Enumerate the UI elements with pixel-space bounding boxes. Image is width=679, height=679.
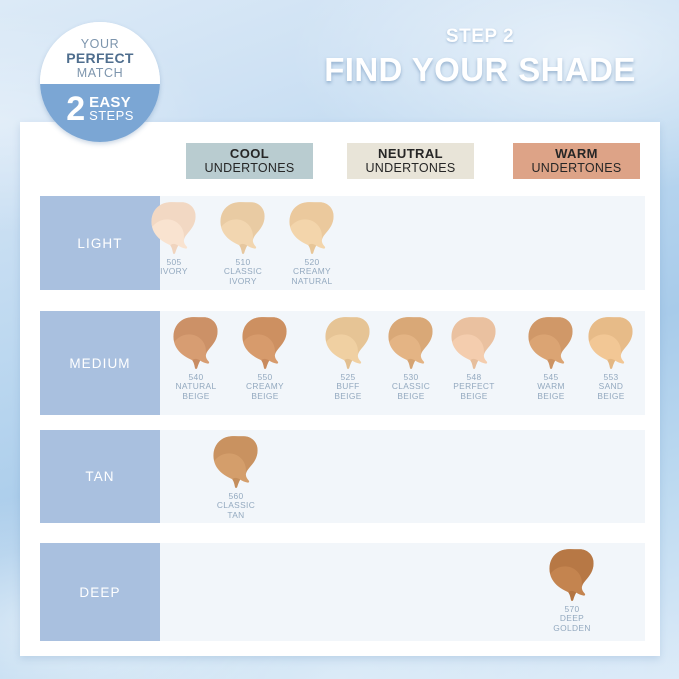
shade-swatch-548[interactable]: 548PERFECTBEIGE [437, 315, 511, 401]
shade-name: IVORY [160, 266, 188, 276]
shade-swatch-553[interactable]: 553SANDBEIGE [574, 315, 648, 401]
shade-label: 520CREAMYNATURAL [275, 258, 349, 286]
shade-row-tan: TAN560CLASSICTAN [40, 430, 645, 523]
foundation-smear-icon [286, 200, 338, 256]
shade-row-light: LIGHT505IVORY510CLASSICIVORY520CREAMYNAT… [40, 196, 645, 290]
foundation-smear-icon [546, 547, 598, 603]
shade-name: DEEPGOLDEN [553, 613, 590, 632]
shade-name: CLASSICIVORY [224, 266, 262, 285]
foundation-smear-icon [585, 315, 637, 371]
shade-swatch-520[interactable]: 520CREAMYNATURAL [275, 200, 349, 286]
row-label-text: TAN [85, 469, 114, 484]
undertone-name: COOL [230, 147, 269, 161]
undertone-header-warm: WARMUNDERTONES [513, 143, 640, 179]
shade-swatch-570[interactable]: 570DEEPGOLDEN [535, 547, 609, 633]
shade-label: 553SANDBEIGE [574, 373, 648, 401]
undertone-header-row: COOLUNDERTONESNEUTRALUNDERTONESWARMUNDER… [0, 143, 679, 179]
badge-line-match: MATCH [77, 66, 124, 80]
page-title: FIND YOUR SHADE [300, 51, 660, 89]
undertone-header-neutral: NEUTRALUNDERTONES [347, 143, 474, 179]
row-label-medium: MEDIUM [40, 311, 160, 415]
row-label-tan: TAN [40, 430, 160, 523]
shade-swatch-550[interactable]: 550CREAMYBEIGE [228, 315, 302, 401]
row-label-text: LIGHT [77, 236, 122, 251]
shade-row-deep: DEEP570DEEPGOLDEN [40, 543, 645, 641]
shade-name: WARMBEIGE [537, 381, 565, 400]
shade-swatch-560[interactable]: 560CLASSICTAN [199, 434, 273, 520]
row-label-text: DEEP [79, 585, 120, 600]
shade-name: CLASSICBEIGE [392, 381, 430, 400]
undertone-header-cool: COOLUNDERTONES [186, 143, 313, 179]
shade-name: NATURALBEIGE [176, 381, 217, 400]
foundation-smear-icon [239, 315, 291, 371]
shade-label: 560CLASSICTAN [199, 492, 273, 520]
foundation-smear-icon [148, 200, 200, 256]
shade-name: CLASSICTAN [217, 500, 255, 519]
foundation-smear-icon [448, 315, 500, 371]
page-header: STEP 2 FIND YOUR SHADE [300, 26, 660, 89]
shade-label: 540NATURALBEIGE [159, 373, 233, 401]
shade-label: 550CREAMYBEIGE [228, 373, 302, 401]
shade-name: BUFFBEIGE [334, 381, 361, 400]
row-label-text: MEDIUM [69, 356, 130, 371]
shade-row-medium: MEDIUM540NATURALBEIGE550CREAMYBEIGE525BU… [40, 311, 645, 415]
badge-line-perfect: PERFECT [66, 51, 133, 66]
foundation-smear-icon [217, 200, 269, 256]
shade-name: CREAMYBEIGE [246, 381, 284, 400]
foundation-smear-icon [525, 315, 577, 371]
foundation-smear-icon [170, 315, 222, 371]
row-label-deep: DEEP [40, 543, 160, 641]
shade-name: PERFECTBEIGE [453, 381, 495, 400]
badge-bottom-half: 2 EASY STEPS [40, 84, 160, 142]
badge-top-half: YOUR PERFECT MATCH [40, 22, 160, 84]
foundation-smear-icon [385, 315, 437, 371]
undertone-name: NEUTRAL [378, 147, 443, 161]
shade-label: 548PERFECTBEIGE [437, 373, 511, 401]
undertone-subtitle: UNDERTONES [365, 161, 455, 175]
shade-label: 505IVORY [137, 258, 211, 277]
shade-name: CREAMYNATURAL [292, 266, 333, 285]
shade-label: 570DEEPGOLDEN [535, 605, 609, 633]
shade-swatch-510[interactable]: 510CLASSICIVORY [206, 200, 280, 286]
undertone-name: WARM [555, 147, 598, 161]
shade-name: SANDBEIGE [597, 381, 624, 400]
shade-label: 510CLASSICIVORY [206, 258, 280, 286]
badge-line-steps: STEPS [89, 109, 134, 122]
foundation-smear-icon [322, 315, 374, 371]
foundation-smear-icon [210, 434, 262, 490]
shade-swatch-540[interactable]: 540NATURALBEIGE [159, 315, 233, 401]
badge-number-two: 2 [66, 94, 85, 124]
step-label: STEP 2 [300, 26, 660, 48]
undertone-subtitle: UNDERTONES [531, 161, 621, 175]
undertone-subtitle: UNDERTONES [204, 161, 294, 175]
shade-swatch-505[interactable]: 505IVORY [137, 200, 211, 277]
perfect-match-badge: YOUR PERFECT MATCH 2 EASY STEPS [40, 22, 160, 142]
badge-easy-steps: EASY STEPS [89, 96, 134, 122]
